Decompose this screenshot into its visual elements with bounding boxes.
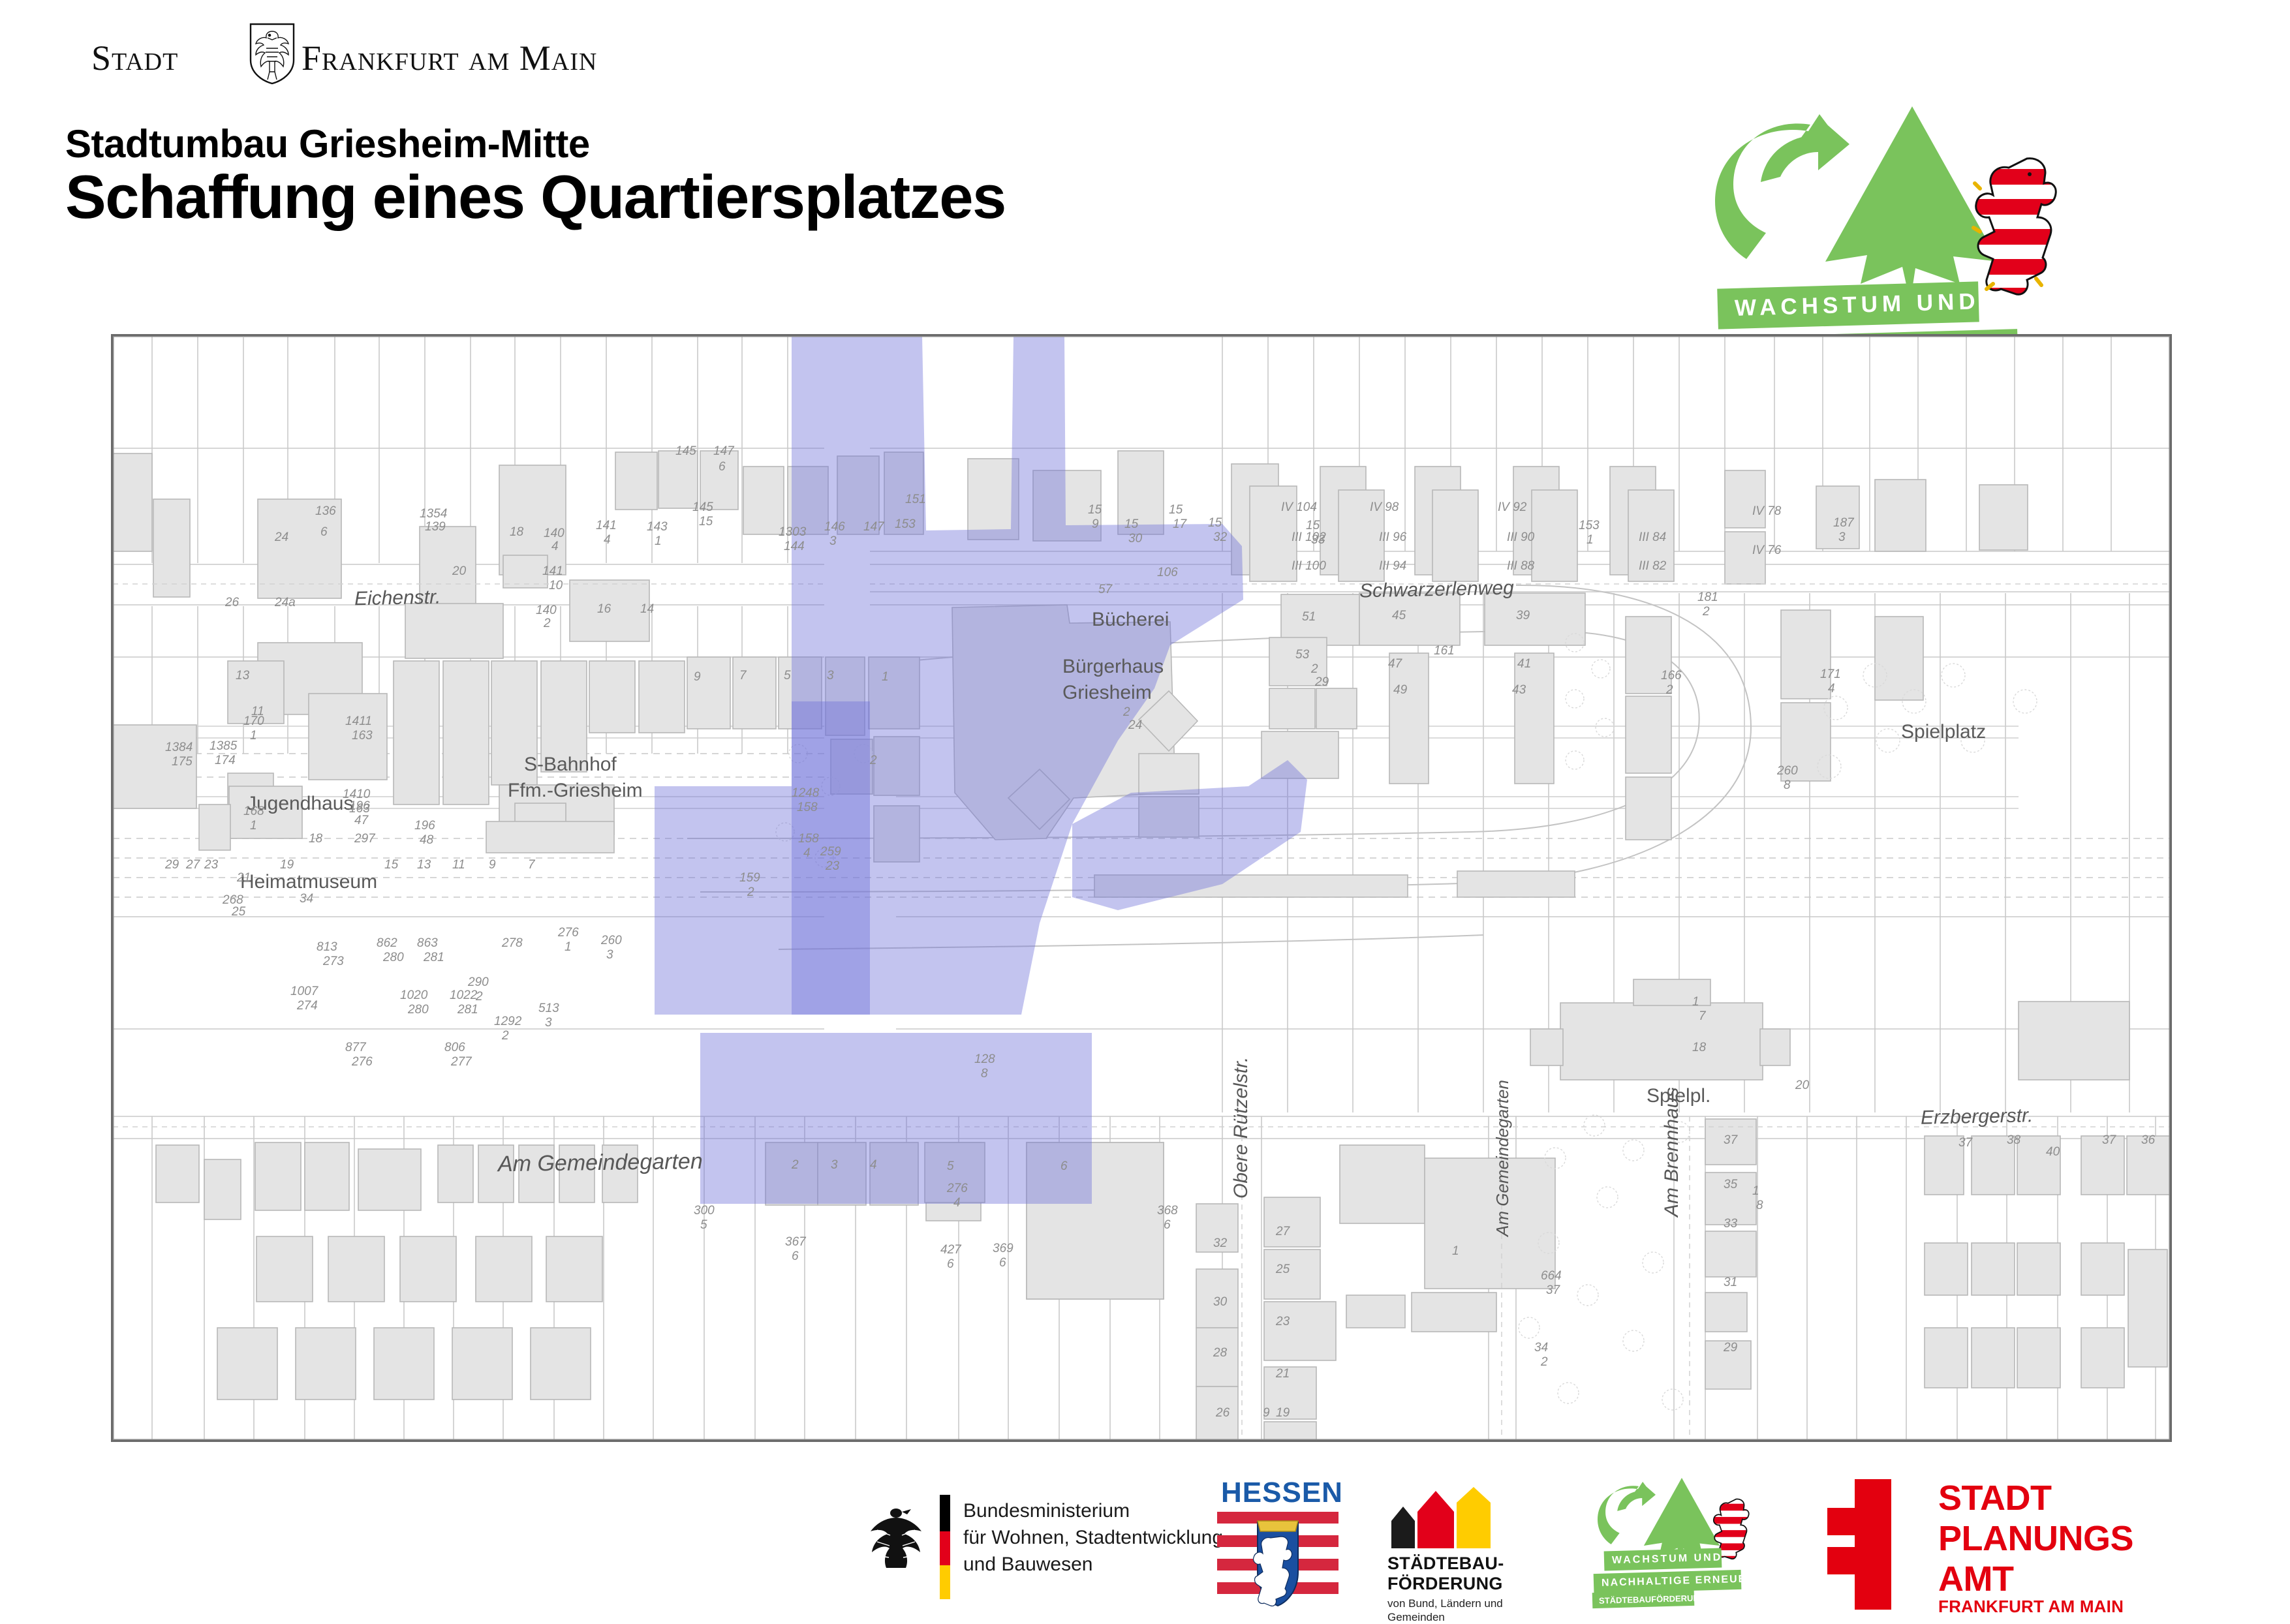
flag-band-red	[940, 1531, 950, 1565]
flag-band-black	[940, 1495, 950, 1531]
parcel-number: 48	[420, 833, 433, 848]
parcel-number: 18	[510, 525, 523, 540]
stf-text-block: STÄDTEBAU- FÖRDERUNG	[1387, 1554, 1504, 1594]
parcel-number: 30	[1213, 1295, 1227, 1310]
bmw-line-2: für Wohnen, Stadtentwicklung	[963, 1524, 1223, 1551]
parcel-number: 1385	[209, 739, 237, 754]
staedtebaufoerderung-logo: STÄDTEBAU- FÖRDERUNG von Bund, Ländern u…	[1384, 1471, 1553, 1618]
parcel-number: 166	[1661, 669, 1682, 683]
stf-sub-1: von Bund, Ländern und	[1387, 1597, 1503, 1610]
city-of-frankfurt-logo: Stadt Frankfurt am Main	[91, 34, 509, 86]
parcel-number: 3	[831, 1158, 838, 1172]
parcel-number: 34	[1534, 1341, 1548, 1355]
parcel-number: 144	[784, 540, 805, 554]
parcel-number: 5	[947, 1159, 954, 1174]
parcel-number: 8	[981, 1067, 988, 1081]
parcel-number: 862	[377, 936, 397, 951]
parcel-number: 170	[243, 714, 264, 729]
parcel-number: 281	[424, 951, 444, 965]
parcel-number: 25	[1276, 1263, 1290, 1277]
parcel-number: 147	[713, 444, 734, 459]
program-band-2: NACHHALTIGE ERNEUERUNG	[1594, 1570, 1742, 1593]
spa-line-1: STADT	[1938, 1478, 2133, 1518]
parcel-number: 8	[1784, 778, 1791, 793]
parcel-number: 1	[565, 940, 572, 955]
parcel-number: III 82	[1639, 559, 1666, 574]
parcel-number: 513	[538, 1002, 559, 1016]
parcel-number: 281	[457, 1003, 478, 1017]
parcel-number: 23	[826, 859, 839, 874]
program-band-1: WACHSTUM UND	[1717, 281, 1979, 329]
program-band-1: WACHSTUM UND	[1604, 1548, 1722, 1570]
parcel-number: IV 76	[1752, 544, 1781, 558]
parcel-number: 369	[993, 1242, 1013, 1256]
program-band-3: STÄDTEBAUFÖRDERUNG HESSEN	[1592, 1590, 1695, 1608]
stf-sub-2: Gemeinden	[1387, 1610, 1503, 1624]
parcel-number: 1411	[345, 714, 372, 729]
parcel-number: 139	[425, 520, 446, 534]
parcel-number: 4	[953, 1196, 961, 1210]
parcel-number: III 90	[1507, 530, 1534, 545]
parcel-number: 813	[317, 940, 337, 955]
project-subtitle: Stadtumbau Griesheim-Mitte	[65, 121, 590, 166]
poi-label-spielpl: Spielpl.	[1647, 1085, 1710, 1107]
parcel-number: 1292	[494, 1015, 521, 1029]
parcel-number: 1303	[779, 525, 806, 540]
parcel-number: 140	[536, 604, 557, 618]
parcel-number: 8	[1756, 1199, 1763, 1213]
parcel-number: 11	[452, 858, 465, 872]
parcel-number: 1	[250, 819, 257, 833]
parcel-number: III 94	[1379, 559, 1406, 574]
parcel-number: 280	[408, 1003, 429, 1017]
spa-line-2: PLANUNGS	[1938, 1518, 2133, 1559]
parcel-number: 24	[275, 530, 288, 545]
parcel-number: 36	[2141, 1133, 2155, 1148]
parcel-number: 53	[1295, 648, 1309, 662]
poi-label-griesheim: Griesheim	[1062, 682, 1152, 704]
parcel-number: 1	[1752, 1184, 1759, 1199]
page-header: Stadt Frankfurt am Main Stadtumbau Gries…	[0, 0, 2290, 313]
parcel-number: 368	[1157, 1204, 1178, 1218]
parcel-number: 47	[1388, 657, 1402, 671]
parcel-number: 3	[606, 948, 613, 962]
parcel-number: 24	[1128, 718, 1142, 733]
parcel-number: 153	[895, 517, 916, 532]
parcel-number: III 88	[1507, 559, 1534, 574]
parcel-number: IV 78	[1752, 504, 1781, 519]
parcel-number: 29	[165, 858, 179, 872]
stf-line-2: FÖRDERUNG	[1387, 1574, 1504, 1594]
parcel-number: 277	[451, 1055, 472, 1069]
parcel-number: 2	[1666, 683, 1673, 697]
parcel-number: 273	[323, 955, 344, 969]
parcel-number: 1007	[290, 985, 318, 999]
parcel-number: 41	[1517, 657, 1531, 671]
parcel-number: 37	[2102, 1133, 2116, 1148]
parcel-number: 33	[1311, 533, 1325, 547]
parcel-number: 174	[215, 754, 236, 768]
parcel-number: 158	[797, 801, 818, 815]
parcel-number: 268	[223, 893, 243, 908]
parcel-number: 23	[204, 858, 218, 872]
parcel-number: 664	[1541, 1269, 1562, 1283]
parcel-number: 16	[597, 602, 611, 617]
parcel-number: 300	[694, 1204, 715, 1218]
parcel-number: 21	[237, 871, 251, 885]
parcel-number: 2	[747, 885, 754, 900]
parcel-number: 23	[1276, 1315, 1290, 1329]
parcel-number: 806	[444, 1041, 465, 1055]
parcel-number: 27	[1276, 1225, 1290, 1239]
poi-label-s-bahnhof: S-Bahnhof	[524, 754, 617, 776]
parcel-number: 276	[352, 1055, 373, 1069]
parcel-number: 3	[827, 669, 834, 683]
street-label-erzbergerstr: Erzbergerstr.	[1921, 1105, 2034, 1129]
stadtplanungsamt-logo: STADT PLANUNGS AMT FRANKFURT AM MAIN	[1827, 1471, 2193, 1618]
street-label-am-gemeindegarten: Am Gemeindegarten	[498, 1149, 703, 1177]
parcel-number: 290	[468, 975, 489, 990]
parcel-number: IV 104	[1281, 500, 1317, 515]
street-label-eichenstr: Eichenstr.	[354, 587, 441, 611]
parcel-number: 175	[172, 755, 193, 769]
parcel-number: 181	[1697, 590, 1718, 605]
street-label-schwarzerlenweg: Schwarzerlenweg	[1359, 577, 1514, 603]
parcel-number: 24a	[275, 596, 296, 610]
parcel-number: 7	[739, 669, 747, 683]
parcel-number: 147	[863, 520, 884, 534]
parcel-number: 151	[905, 493, 926, 507]
parcel-number: 4	[803, 846, 811, 861]
parcel-number: 1	[1452, 1244, 1459, 1259]
parcel-number: 19	[280, 858, 294, 872]
parcel-number: 37	[1546, 1283, 1560, 1298]
parcel-number: 13	[417, 858, 431, 872]
parcel-number: 30	[1128, 532, 1142, 546]
parcel-number: 1022	[450, 988, 477, 1003]
parcel-number: III 100	[1292, 559, 1326, 574]
parcel-number: 6	[1060, 1159, 1068, 1174]
parcel-number: 136	[315, 504, 336, 519]
parcel-number: 196	[414, 819, 435, 833]
spa-text-block: STADT PLANUNGS AMT	[1938, 1478, 2133, 1599]
parcel-number: 37	[1724, 1133, 1737, 1148]
parcel-number: 1020	[400, 988, 427, 1003]
parcel-number: 145	[692, 500, 713, 515]
stf-subtext-block: von Bund, Ländern und Gemeinden	[1387, 1597, 1503, 1624]
parcel-number: 6	[792, 1249, 799, 1264]
parcel-number: 29	[1315, 675, 1329, 690]
parcel-number: 7	[528, 858, 535, 872]
parcel-number: 28	[1213, 1346, 1227, 1360]
three-houses-icon	[1389, 1487, 1493, 1548]
parcel-number: 3	[829, 534, 837, 549]
parcel-number: 32	[1213, 1236, 1227, 1251]
parcel-number: 2	[792, 1158, 799, 1172]
parcel-number: 20	[452, 564, 466, 579]
parcel-number: 168	[243, 804, 264, 819]
parcel-number: 141	[542, 564, 563, 579]
stf-line-1: STÄDTEBAU-	[1387, 1554, 1504, 1574]
hessen-state-logo: HESSEN	[1217, 1471, 1348, 1618]
parcel-number: 1	[250, 729, 257, 743]
parcel-number: 863	[417, 936, 438, 951]
parcel-number: 161	[1434, 644, 1455, 658]
parcel-number: 31	[1724, 1276, 1737, 1290]
parcel-number: 15	[699, 515, 713, 529]
parcel-number: 4	[604, 533, 611, 547]
parcel-number: 145	[675, 444, 696, 459]
parcel-number: 163	[352, 729, 373, 743]
parcel-number: 4	[1828, 682, 1835, 696]
page-title: Schaffung eines Quartiersplatzes	[65, 162, 1006, 232]
parcel-number: 15	[1306, 519, 1320, 533]
parcel-number: 128	[974, 1052, 995, 1067]
parcel-number: 6	[1164, 1218, 1171, 1233]
parcel-number: 7	[1699, 1009, 1706, 1024]
parcel-number: 2	[1311, 662, 1318, 677]
parcel-number: 15	[1169, 503, 1183, 517]
parcel-number: 49	[1393, 683, 1407, 697]
parcel-number: 1	[655, 534, 662, 549]
parcel-number: 3	[545, 1016, 552, 1030]
street-label-obere-ruetzelstr: Obere Rützelstr.	[1230, 1057, 1252, 1199]
parcel-number: 3	[1838, 530, 1846, 545]
parcel-number: 6	[999, 1256, 1006, 1270]
parcel-number: 2	[502, 1029, 509, 1043]
parcel-number: 1248	[792, 786, 819, 801]
parcel-number: 21	[1276, 1367, 1290, 1381]
parcel-number: 17	[1173, 517, 1186, 532]
parcel-number: 5	[784, 669, 791, 683]
parcel-number: 43	[1512, 683, 1526, 697]
spa-line-3: AMT	[1938, 1559, 2133, 1599]
parcel-number: 15	[1124, 517, 1138, 532]
hessen-title: HESSEN	[1221, 1477, 1343, 1509]
parcel-number: 367	[785, 1235, 806, 1249]
parcel-number: 877	[345, 1041, 366, 1055]
parcel-number: 5	[700, 1218, 707, 1233]
parcel-number: 15	[1088, 503, 1102, 517]
parcel-number: 29	[1724, 1341, 1737, 1355]
parcel-number: 280	[383, 951, 404, 965]
parcel-number: 6	[947, 1257, 954, 1272]
hessen-shield-icon	[1217, 1512, 1338, 1610]
parcel-number: 140	[544, 527, 565, 541]
parcel-number: 15	[1208, 516, 1222, 530]
parcel-number: 1354	[420, 507, 447, 521]
frankfurt-eagle-crest-icon	[248, 22, 296, 85]
parcel-number: 171	[1820, 667, 1841, 682]
parcel-number: 57	[1098, 583, 1112, 597]
parcel-number: 10	[549, 579, 563, 593]
parcel-number: 2	[1703, 605, 1710, 619]
parcel-number: IV 92	[1498, 500, 1526, 515]
parcel-number: 40	[2046, 1145, 2060, 1159]
parcel-number: 33	[1724, 1217, 1737, 1231]
parcel-number: 26	[1216, 1406, 1230, 1420]
parcel-number: 34	[300, 892, 313, 906]
parcel-number: 13	[236, 669, 249, 683]
bmw-text-block: Bundesministerium für Wohnen, Stadtentwi…	[963, 1497, 1223, 1578]
parcel-number: 2	[1123, 705, 1130, 720]
bmw-line-3: und Bauwesen	[963, 1551, 1223, 1578]
parcel-number: 297	[354, 832, 375, 846]
parcel-number: III 96	[1379, 530, 1406, 545]
parcel-number: 427	[940, 1243, 961, 1257]
parcel-number: 27	[186, 858, 200, 872]
city-logo-right-text: Frankfurt am Main	[302, 38, 597, 78]
parcel-number: 2	[544, 617, 551, 631]
parcel-number: 276	[947, 1182, 968, 1196]
parcel-number: 51	[1302, 610, 1316, 624]
parcel-number: 153	[1579, 519, 1600, 533]
parcel-number: 143	[647, 520, 668, 534]
parcel-number: 1	[882, 670, 889, 684]
poi-label-buergerhaus: Bürgerhaus	[1062, 656, 1164, 678]
parcel-number: 274	[297, 999, 318, 1013]
parcel-number: 2	[476, 990, 483, 1004]
parcel-number: 9	[489, 858, 496, 872]
parcel-number: 38	[2007, 1133, 2020, 1148]
parcel-number: 37	[1958, 1136, 1972, 1150]
spa-subtext: FRANKFURT AM MAIN	[1938, 1597, 2124, 1617]
parcel-number: 159	[739, 871, 760, 885]
parcel-number: 35	[1724, 1178, 1737, 1192]
flag-band-gold	[940, 1565, 950, 1599]
parcel-number: 4	[870, 1158, 877, 1172]
poi-label-ffm-griesheim: Ffm.-Griesheim	[508, 780, 643, 802]
street-label-am-gemeindegarten-vertical: Am Gemeindegarten	[1493, 1080, 1513, 1236]
parcel-number: 20	[1795, 1079, 1809, 1093]
parcel-number: 14	[640, 602, 654, 617]
bmw-line-1: Bundesministerium	[963, 1497, 1223, 1524]
parcel-number: 18	[309, 832, 322, 846]
parcel-number: 45	[1392, 609, 1406, 623]
parcel-number: 32	[1213, 530, 1227, 545]
parcel-number: 15	[384, 858, 398, 872]
map-vector-layer	[113, 336, 2170, 1440]
parcel-number: 1	[1692, 995, 1699, 1009]
parcel-number: 141	[596, 519, 617, 533]
parcel-number: 106	[1157, 566, 1178, 580]
parcel-number: III 84	[1639, 530, 1666, 545]
poi-label-heimatmuseum: Heimatmuseum	[240, 871, 377, 893]
parcel-number: 6	[719, 460, 726, 474]
parcel-number: 146	[824, 520, 845, 534]
parcel-number: 4	[551, 540, 559, 554]
parcel-number: 260	[1777, 764, 1798, 778]
parcel-number: 1	[1586, 533, 1594, 547]
poi-label-buecherei: Bücherei	[1092, 609, 1169, 631]
parcel-number: 276	[558, 926, 579, 940]
parcel-number: 1384	[165, 741, 193, 755]
parcel-number: 9	[694, 670, 701, 684]
parcel-number: 26	[225, 596, 239, 610]
parcel-number: 259	[820, 845, 841, 859]
parcel-number: 19	[1276, 1406, 1290, 1420]
parcel-number: 278	[502, 936, 523, 951]
parcel-number: 9	[1263, 1406, 1270, 1420]
parcel-number: IV 98	[1370, 500, 1399, 515]
bundesadler-icon	[868, 1501, 924, 1569]
city-logo-left-text: Stadt	[91, 38, 178, 78]
parcel-number: 196	[349, 799, 370, 814]
parcel-number: 187	[1833, 516, 1854, 530]
bundesministerium-logo: Bundesministerium für Wohnen, Stadtentwi…	[868, 1471, 1207, 1618]
parcel-number: 260	[601, 934, 622, 948]
parcel-number: 18	[1692, 1041, 1706, 1055]
parcel-number: 9	[1092, 517, 1099, 532]
cadastral-map[interactable]: Eichenstr. Schwarzerlenweg Am Gemeindega…	[111, 334, 2172, 1442]
poi-label-spielplatz: Spielplatz	[1901, 721, 1986, 743]
parcel-number: 158	[798, 832, 819, 846]
parcel-number: 47	[354, 814, 368, 828]
parcel-number: 2	[870, 754, 877, 768]
page-footer: Bundesministerium für Wohnen, Stadtentwi…	[0, 1471, 2290, 1618]
stadtplanungsamt-mark-icon	[1827, 1479, 1912, 1610]
hessen-lion-icon	[1964, 155, 2062, 305]
parcel-number: 6	[320, 525, 328, 540]
parcel-number: 39	[1516, 609, 1530, 623]
parcel-number: 2	[1541, 1355, 1548, 1370]
